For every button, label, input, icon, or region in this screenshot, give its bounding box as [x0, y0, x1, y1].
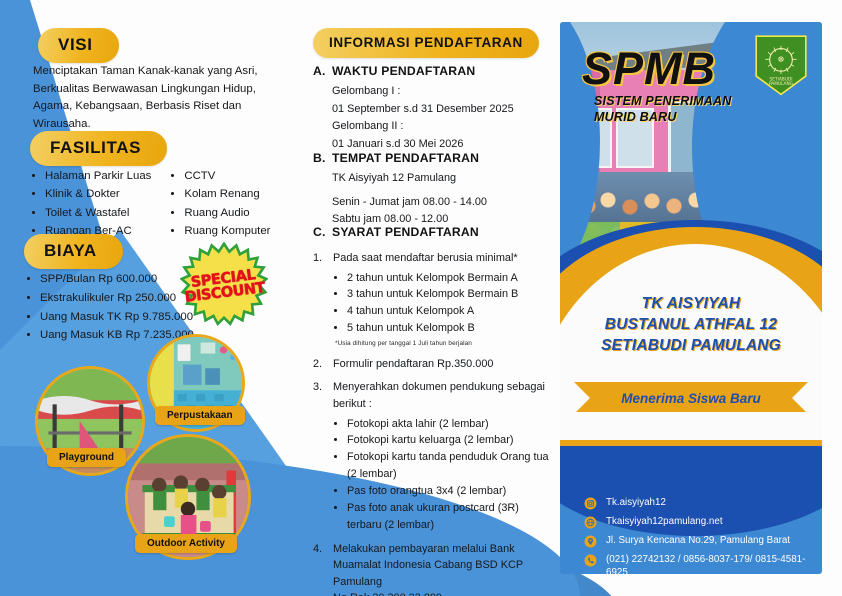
contact-address[interactable]: Jl. Surya Kencana No.29, Pamulang Barat	[584, 534, 812, 548]
item-bullets: 2 tahun untuk Kelompok Bermain A 3 tahun…	[333, 270, 556, 338]
right-panel: SPMB SISTEM PENERIMAAN MURID BARU ☸ SETI…	[560, 22, 822, 574]
special-discount-badge: SPECIAL DISCOUNT	[180, 242, 268, 330]
section-letter: A.	[313, 64, 325, 78]
photo-outdoor-activity: Outdoor Activity	[125, 434, 251, 560]
item-number: 4.	[313, 541, 325, 596]
middle-column: INFORMASI PENDAFTARAN A. WAKTU PENDAFTAR…	[306, 0, 556, 596]
item-number: 3.	[313, 379, 325, 533]
contact-text: Jl. Surya Kencana No.29, Pamulang Barat	[606, 534, 790, 547]
item-text: Formulir pendaftaran Rp.350.000	[333, 356, 556, 373]
photo-label: Playground	[47, 448, 126, 467]
list-item: 3. Menyerahkan dokumen pendukung sebagai…	[313, 379, 556, 533]
list-item: 1. Pada saat mendaftar berusia minimal* …	[313, 250, 556, 349]
fasilitas-lists: Halaman Parkir Luas Klinik & Dokter Toil…	[30, 167, 295, 240]
list-item: Ruang Audio	[184, 204, 270, 222]
contact-website[interactable]: Tkaisyiyah12pamulang.net	[584, 515, 812, 529]
biaya-heading: BIAYA	[24, 234, 123, 269]
section-tempat-pendaftaran: B. TEMPAT PENDAFTARAN TK Aisyiyah 12 Pam…	[313, 151, 556, 229]
item-content: Pada saat mendaftar berusia minimal* 2 t…	[333, 250, 556, 349]
hero-title: SPMB	[582, 46, 716, 91]
instagram-icon	[584, 497, 597, 510]
brochure-page: VISI Menciptakan Taman Kanak-kanak yang …	[0, 0, 842, 596]
section-heading: C. SYARAT PENDAFTARAN	[313, 225, 556, 239]
contact-text: Tk.aisyiyah12	[606, 496, 666, 509]
contact-text: (021) 22742132 / 0856-8037-179/ 0815-458…	[606, 553, 812, 574]
location-pin-icon	[584, 535, 597, 548]
item-number: 1.	[313, 250, 325, 349]
fasilitas-column-1: Halaman Parkir Luas Klinik & Dokter Toil…	[30, 167, 151, 240]
ribbon-text: Menerima Siswa Baru	[621, 391, 761, 406]
photo-label: Perpustakaan	[155, 406, 245, 425]
text-line: 01 September s.d 31 Desember 2025	[332, 101, 556, 119]
phone-icon	[584, 554, 597, 567]
informasi-pendaftaran-heading: INFORMASI PENDAFTARAN	[313, 28, 539, 58]
section-letter: B.	[313, 151, 325, 165]
list-item: Klinik & Dokter	[45, 185, 151, 203]
section-body: Gelombang I : 01 September s.d 31 Desemb…	[332, 83, 556, 154]
item-text: Pada saat mendaftar berusia minimal*	[333, 252, 518, 264]
section-heading: B. TEMPAT PENDAFTARAN	[313, 151, 556, 165]
item-text: Melakukan pembayaran melalui Bank Muamal…	[333, 541, 556, 596]
text-line: Gelombang II :	[332, 118, 556, 136]
list-item: Pas foto orangtua 3x4 (2 lembar)	[347, 483, 556, 500]
list-item: 4. Melakukan pembayaran melalui Bank Mua…	[313, 541, 556, 596]
contact-phone[interactable]: (021) 22742132 / 0856-8037-179/ 0815-458…	[584, 553, 812, 574]
visi-text: Menciptakan Taman Kanak-kanak yang Asri,…	[33, 63, 273, 134]
item-content: Menyerahkan dokumen pendukung sebagai be…	[333, 379, 556, 533]
list-item: Halaman Parkir Luas	[45, 167, 151, 185]
section-letter: C.	[313, 225, 325, 239]
footnote: *Usia dihitung per tanggal 1 Juli tahun …	[335, 339, 556, 349]
list-item: Fotokopi akta lahir (2 lembar)	[347, 416, 556, 433]
section-syarat-pendaftaran: C. SYARAT PENDAFTARAN	[313, 225, 556, 239]
list-item: 3 tahun untuk Kelompok Bermain B	[347, 286, 556, 303]
globe-icon	[584, 516, 597, 529]
list-item: 5 tahun untuk Kelompok B	[347, 320, 556, 337]
school-name-line: TK AISYIYAH	[560, 294, 822, 315]
hero-subtitle: SISTEM PENERIMAAN MURID BARU	[594, 94, 774, 125]
contact-list: Tk.aisyiyah12 Tkaisyiyah12pamulang.net J…	[584, 496, 812, 574]
section-title: SYARAT PENDAFTARAN	[332, 225, 479, 239]
section-waktu-pendaftaran: A. WAKTU PENDAFTARAN Gelombang I : 01 Se…	[313, 64, 556, 154]
list-item: 2. Formulir pendaftaran Rp.350.000	[313, 356, 556, 373]
section-title: WAKTU PENDAFTARAN	[332, 64, 475, 78]
fasilitas-column-2: CCTV Kolam Renang Ruang Audio Ruang Komp…	[169, 167, 270, 240]
school-name-block: TK AISYIYAH BUSTANUL ATHFAL 12 SETIABUDI…	[560, 294, 822, 357]
menerima-siswa-ribbon: Menerima Siswa Baru	[574, 382, 808, 414]
section-title: TEMPAT PENDAFTARAN	[332, 151, 479, 165]
list-item: Fotokopi kartu keluarga (2 lembar)	[347, 432, 556, 449]
photo-label: Outdoor Activity	[135, 534, 237, 553]
svg-text:☸: ☸	[777, 54, 784, 64]
section-body: TK Aisyiyah 12 Pamulang Senin - Jumat ja…	[332, 170, 556, 229]
list-item: Kolam Renang	[184, 185, 270, 203]
visi-heading: VISI	[38, 28, 119, 63]
svg-text:SETIABUDI: SETIABUDI	[770, 76, 793, 82]
photo-perpustakaan: Perpustakaan	[147, 334, 245, 432]
contact-text: Tkaisyiyah12pamulang.net	[606, 515, 723, 528]
list-item: 2 tahun untuk Kelompok Bermain A	[347, 270, 556, 287]
list-item: CCTV	[184, 167, 270, 185]
discount-text: SPECIAL DISCOUNT	[175, 237, 273, 335]
text-line: Gelombang I :	[332, 83, 556, 101]
text-line: TK Aisyiyah 12 Pamulang	[332, 170, 556, 188]
left-column: VISI Menciptakan Taman Kanak-kanak yang …	[0, 0, 300, 596]
school-logo-icon: ☸ SETIABUDI PAMULANG	[754, 34, 808, 96]
school-name-line: SETIABUDI PAMULANG	[560, 336, 822, 357]
text-line: Senin - Jumat jam 08.00 - 14.00	[332, 194, 556, 212]
list-item: Pas foto anak ukuran postcard (3R) terba…	[347, 500, 556, 534]
item-text: Menyerahkan dokumen pendukung sebagai be…	[333, 381, 545, 410]
list-item: 4 tahun untuk Kelompok A	[347, 303, 556, 320]
list-item: Toilet & Wastafel	[45, 204, 151, 222]
section-heading: A. WAKTU PENDAFTARAN	[313, 64, 556, 78]
svg-text:PAMULANG: PAMULANG	[769, 81, 793, 87]
list-item: Fotokopi kartu tanda penduduk Orang tua …	[347, 449, 556, 483]
item-bullets: Fotokopi akta lahir (2 lembar) Fotokopi …	[333, 416, 556, 534]
requirements-list: 1. Pada saat mendaftar berusia minimal* …	[313, 250, 556, 596]
school-name-line: BUSTANUL ATHFAL 12	[560, 315, 822, 336]
contact-instagram[interactable]: Tk.aisyiyah12	[584, 496, 812, 510]
item-number: 2.	[313, 356, 325, 373]
fasilitas-heading: FASILITAS	[30, 131, 167, 166]
